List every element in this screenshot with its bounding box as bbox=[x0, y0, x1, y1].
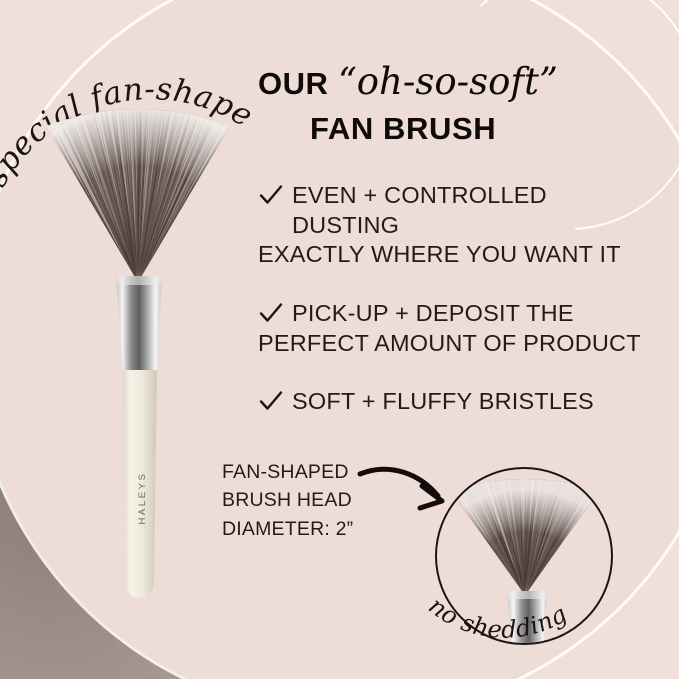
list-item: EVEN + CONTROLLED DUSTING EXACTLY WHERE … bbox=[258, 181, 660, 270]
headline-line-1: OUR “oh-so-soft” bbox=[258, 62, 660, 101]
brush-ferrule bbox=[116, 276, 162, 372]
bullet-1-line-2: EXACTLY WHERE YOU WANT IT bbox=[258, 240, 660, 270]
handle-brand-text: HALEYS bbox=[137, 471, 148, 524]
no-shedding-callout: no shedding bbox=[412, 582, 632, 679]
headline-our: OUR bbox=[258, 66, 328, 101]
bullet-1-line-1: EVEN + CONTROLLED DUSTING bbox=[292, 182, 547, 238]
svg-text:no shedding: no shedding bbox=[423, 591, 571, 643]
list-item: SOFT + FLUFFY BRISTLES bbox=[258, 387, 660, 417]
check-icon bbox=[258, 182, 284, 208]
headline-quoted: “oh-so-soft” bbox=[338, 60, 558, 103]
fan-brush-illustration: HALEYS bbox=[24, 86, 254, 626]
copy-column: OUR “oh-so-soft” FAN BRUSH EVEN + CONTRO… bbox=[258, 62, 660, 417]
benefit-list: EVEN + CONTROLLED DUSTING EXACTLY WHERE … bbox=[258, 181, 660, 417]
check-icon bbox=[258, 300, 284, 326]
list-item-text: EVEN + CONTROLLED DUSTING EXACTLY WHERE … bbox=[292, 181, 660, 270]
list-item-text: SOFT + FLUFFY BRISTLES bbox=[292, 387, 594, 417]
check-icon bbox=[258, 388, 284, 414]
poster-canvas: special fan-shape bbox=[0, 0, 679, 679]
list-item: PICK-UP + DEPOSIT THE PERFECT AMOUNT OF … bbox=[258, 299, 660, 358]
bullet-3-line-1: SOFT + FLUFFY BRISTLES bbox=[292, 388, 594, 414]
list-item-text: PICK-UP + DEPOSIT THE PERFECT AMOUNT OF … bbox=[292, 299, 641, 358]
bullet-2-line-1: PICK-UP + DEPOSIT THE bbox=[292, 300, 574, 326]
no-shedding-text: no shedding bbox=[423, 591, 571, 643]
headline-line-2: FAN BRUSH bbox=[258, 111, 660, 147]
bullet-2-line-2: PERFECT AMOUNT OF PRODUCT bbox=[258, 329, 641, 359]
brush-bristles bbox=[24, 86, 254, 296]
